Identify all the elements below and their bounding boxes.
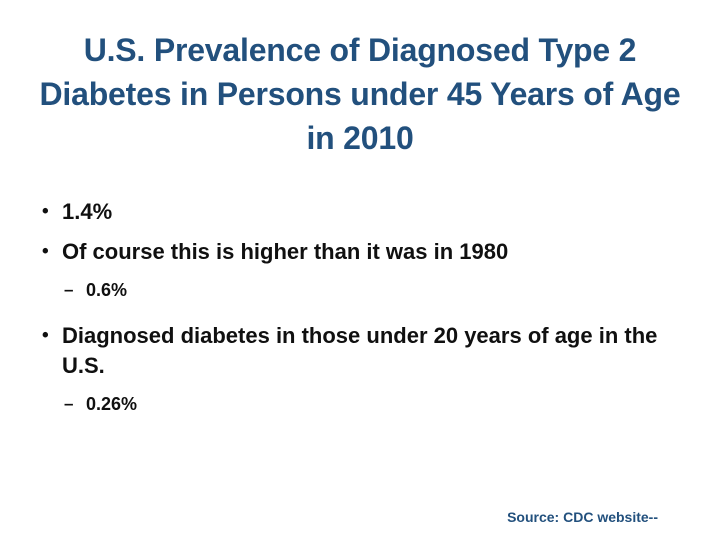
bullet-text: 1.4% (62, 197, 666, 227)
bullet-text: Diagnosed diabetes in those under 20 yea… (62, 321, 666, 381)
source-citation: Source: CDC website-- (507, 508, 658, 526)
bullet-marker-icon: • (36, 197, 62, 227)
bullet-marker-icon: • (36, 321, 62, 351)
bullet-text: Of course this is higher than it was in … (62, 237, 666, 267)
slide-title-text: U.S. Prevalence of Diagnosed Type 2 Diab… (32, 28, 688, 160)
slide-title: U.S. Prevalence of Diagnosed Type 2 Diab… (32, 28, 688, 160)
dash-marker-icon: – (64, 391, 86, 417)
bullet-item-3: – 0.6% (36, 277, 666, 303)
slide-body: • 1.4% • Of course this is higher than i… (36, 197, 666, 427)
body-spacer (36, 313, 666, 321)
bullet-marker-icon: • (36, 237, 62, 267)
dash-marker-icon: – (64, 277, 86, 303)
bullet-item-1: • 1.4% (36, 197, 666, 227)
bullet-item-4: • Diagnosed diabetes in those under 20 y… (36, 321, 666, 381)
bullet-item-5: – 0.26% (36, 391, 666, 417)
bullet-item-2: • Of course this is higher than it was i… (36, 237, 666, 267)
bullet-text: 0.6% (86, 277, 666, 303)
bullet-text: 0.26% (86, 391, 666, 417)
presentation-slide: U.S. Prevalence of Diagnosed Type 2 Diab… (0, 0, 720, 540)
